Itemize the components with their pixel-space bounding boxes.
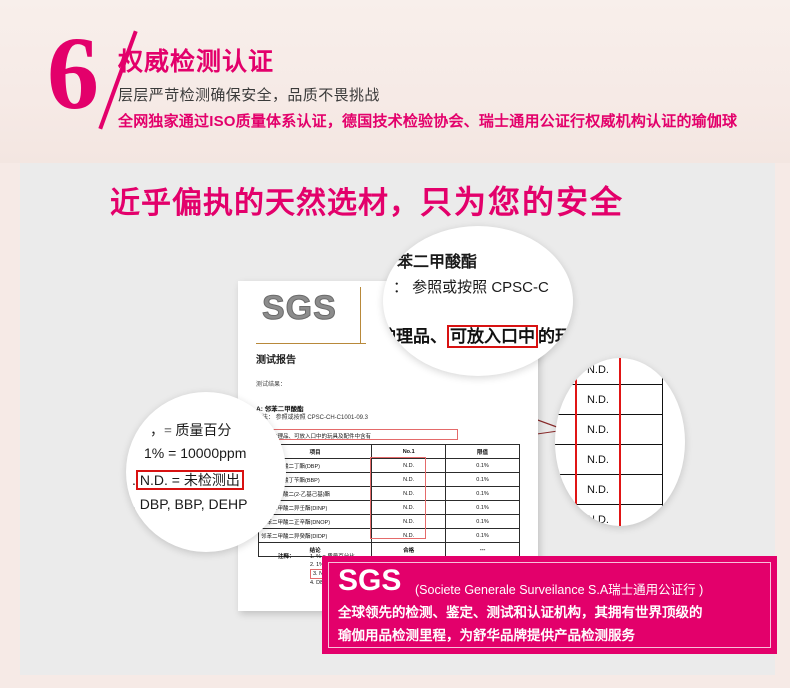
magnifier-left-line-4: . DBP, BBP, DEHP — [132, 496, 247, 512]
magnifier-top-line-2: ： 参照或按照 CPSC-C — [393, 276, 549, 297]
magnified-cell-blank — [620, 415, 662, 445]
magnifier-right: N.D.N.D.N.D.N.D.N.D.N.D. — [555, 358, 685, 526]
table-row: 邻苯二甲酸二异壬酯(DINP)N.D.0.1% — [259, 501, 520, 515]
magnified-cell-blank — [620, 358, 662, 385]
table-cell: N.D. — [372, 515, 446, 529]
magnified-cell-blank — [555, 475, 576, 505]
magnifier-left-line-2: 1% = 10000ppm — [144, 445, 246, 461]
phthalate-results-table: 项目No.1限值邻苯二甲酸二丁酯(DBP)N.D.0.1%邻苯二甲酸丁苄酯(BB… — [258, 444, 520, 557]
sgs-banner-line-1: 全球领先的检测、鉴定、测试和认证机构，其拥有世界顶级的 — [338, 601, 703, 621]
document-note-highlight-box: 凡童护理品、可放入口中的玩具及配件中含有 — [258, 429, 458, 440]
page-headline: 近乎偏执的天然选材，只为您的安全 — [110, 177, 624, 223]
magnified-cell-blank — [620, 445, 662, 475]
sgs-banner-full-name: (Societe Generale Surveilance S.A瑞士通用公证行… — [415, 579, 703, 598]
magnifier-left-line-3-boxed: N.D. = 未检测出 — [136, 470, 244, 490]
table-cell: 0.1% — [446, 487, 520, 501]
banner-subtitle-secondary: 全网独家通过ISO质量体系认证，德国技术检验协会、瑞士通用公证行权威机构认证的瑜… — [118, 110, 737, 131]
table-footer-cell: --- — [446, 543, 520, 557]
result-label: 测试结果： — [256, 379, 286, 388]
table-cell: 0.1% — [446, 473, 520, 487]
magnified-table-row: N.D. — [555, 358, 663, 385]
magnified-cell-blank — [555, 385, 576, 415]
table-cell: N.D. — [372, 501, 446, 515]
sgs-banner-logo: SGS — [338, 564, 401, 598]
magnified-cell-result: N.D. — [576, 358, 621, 385]
magnifier-top-line-1: 苯二甲酸酯 — [397, 248, 477, 272]
magnified-cell-blank — [620, 475, 662, 505]
table-cell: N.D. — [372, 487, 446, 501]
magnified-cell-result: N.D. — [576, 415, 621, 445]
table-cell: 0.1% — [446, 501, 520, 515]
banner-title: 权威检测认证 — [118, 42, 274, 78]
logo-rule-vertical — [360, 287, 361, 343]
magnifier-top-line-3: 护理品、可放入口中的玩 — [383, 322, 572, 347]
table-header-row: 项目No.1限值 — [259, 445, 520, 459]
headline-lead: 近乎偏执的天然选材， — [110, 187, 420, 220]
headline-strong: 只为您的安全 — [420, 184, 624, 220]
magnified-cell-result: N.D. — [576, 385, 621, 415]
magnifier-top-line-3-boxed: 可放入口中 — [447, 325, 538, 348]
magnified-result-column-table: N.D.N.D.N.D.N.D.N.D.N.D. — [555, 358, 663, 526]
table-row: 邻苯二甲酸丁苄酯(BBP)N.D.0.1% — [259, 473, 520, 487]
table-row: 邻苯二甲酸二正辛酯(DNOP)N.D.0.1% — [259, 515, 520, 529]
magnified-cell-blank — [555, 445, 576, 475]
magnifier-left-line-3: .N.D. = 未检测出 — [132, 470, 244, 490]
magnifier-top: 苯二甲酸酯 ： 参照或按照 CPSC-C 护理品、可放入口中的玩 — [383, 226, 573, 376]
magnifier-top-line-3-post: 的玩 — [538, 327, 572, 346]
magnified-cell-result: N.D. — [576, 475, 621, 505]
magnified-table-row: N.D. — [555, 385, 663, 415]
section-number: 6 — [47, 22, 95, 126]
table-row: 邻苯二甲酸二丁酯(DBP)N.D.0.1% — [259, 459, 520, 473]
section-header-banner: 6 权威检测认证 层层严苛检测确保安全，品质不畏挑战 全网独家通过ISO质量体系… — [0, 0, 790, 163]
table-cell: 邻苯二甲酸二异癸酯(DIDP) — [259, 529, 372, 543]
magnified-cell-blank — [555, 415, 576, 445]
table-header-cell: No.1 — [372, 445, 446, 459]
table-header-cell: 限值 — [446, 445, 520, 459]
magnifier-left-line-1: ，= 质量百分 — [150, 420, 231, 440]
banner-subtitle-primary: 层层严苛检测确保安全，品质不畏挑战 — [118, 84, 380, 105]
section-a-method: 方法： 参照或按照 CPSC-CH-C1001-09.3 — [256, 412, 368, 421]
sgs-description-banner: SGS (Societe Generale Surveilance S.A瑞士通… — [322, 556, 777, 654]
sgs-logo: SGS — [262, 289, 337, 328]
table-cell: 邻苯二甲酸二正辛酯(DNOP) — [259, 515, 372, 529]
report-title: 测试报告 — [256, 351, 296, 366]
magnified-table-row: N.D. — [555, 415, 663, 445]
magnified-cell-result: N.D. — [576, 505, 621, 527]
table-cell: N.D. — [372, 529, 446, 543]
table-cell: 0.1% — [446, 515, 520, 529]
magnified-table-row: N.D. — [555, 475, 663, 505]
table-cell: 0.1% — [446, 459, 520, 473]
magnifier-top-line-3-pre: 护理品、 — [383, 327, 447, 346]
magnified-table-row: N.D. — [555, 445, 663, 475]
magnified-cell-blank — [555, 358, 576, 385]
magnified-cell-blank — [620, 505, 662, 527]
magnified-cell-result: N.D. — [576, 445, 621, 475]
magnified-cell-blank — [620, 385, 662, 415]
notes-label: 注释： — [278, 553, 295, 561]
sgs-banner-line-2: 瑜伽用品检测里程，为舒华品牌提供产品检测服务 — [338, 624, 635, 644]
table-cell: 0.1% — [446, 529, 520, 543]
magnified-cell-blank — [555, 505, 576, 527]
magnifier-left: ，= 质量百分 1% = 10000ppm .N.D. = 未检测出 . DBP… — [126, 392, 286, 552]
magnified-table-row: N.D. — [555, 505, 663, 527]
table-row: 邻苯二甲酸二(2-乙基己基)酯N.D.0.1% — [259, 487, 520, 501]
table-cell: N.D. — [372, 459, 446, 473]
table-cell: N.D. — [372, 473, 446, 487]
table-footer-cell: 合格 — [372, 543, 446, 557]
table-row: 邻苯二甲酸二异癸酯(DIDP)N.D.0.1% — [259, 529, 520, 543]
logo-rule-horizontal — [256, 343, 366, 344]
